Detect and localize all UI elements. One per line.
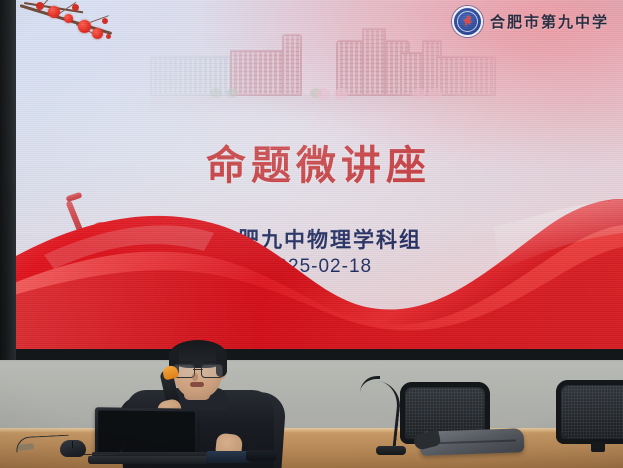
plum-flower	[92, 28, 103, 39]
desk-front-edge	[0, 428, 623, 432]
projection-screen: 合肥市第九中学 命题微讲座 合肥九中物理学科组 2025-02-18	[14, 0, 623, 349]
plum-flower	[64, 14, 73, 23]
desk-item	[246, 450, 276, 461]
campus-building	[150, 56, 236, 96]
red-ribbon-decoration	[14, 199, 623, 349]
gooseneck-microphone-base	[376, 446, 406, 455]
campus-building	[436, 56, 496, 96]
campus-panorama-image	[150, 22, 496, 118]
school-branding: 合肥市第九中学	[452, 6, 609, 37]
plum-flower	[48, 6, 60, 18]
plum-flower	[78, 20, 91, 33]
campus-clock-tower	[282, 34, 302, 96]
plum-blossom-branch	[14, 0, 126, 72]
eyeglasses	[173, 364, 223, 376]
screenshot-scene: 合肥市第九中学 命题微讲座 合肥九中物理学科组 2025-02-18	[0, 0, 623, 468]
mouse-cable-right	[84, 444, 124, 455]
computer-mouse	[60, 440, 86, 457]
campus-building	[362, 28, 386, 96]
ribbon-svg	[14, 199, 623, 349]
school-name-text: 合肥市第九中学	[490, 11, 609, 32]
chair-right	[556, 380, 623, 444]
school-emblem-icon	[452, 6, 483, 37]
screen-left-bezel	[0, 0, 16, 360]
laptop-base	[88, 456, 208, 464]
smartphone	[206, 451, 250, 463]
slide-title: 命题微讲座	[14, 133, 623, 191]
